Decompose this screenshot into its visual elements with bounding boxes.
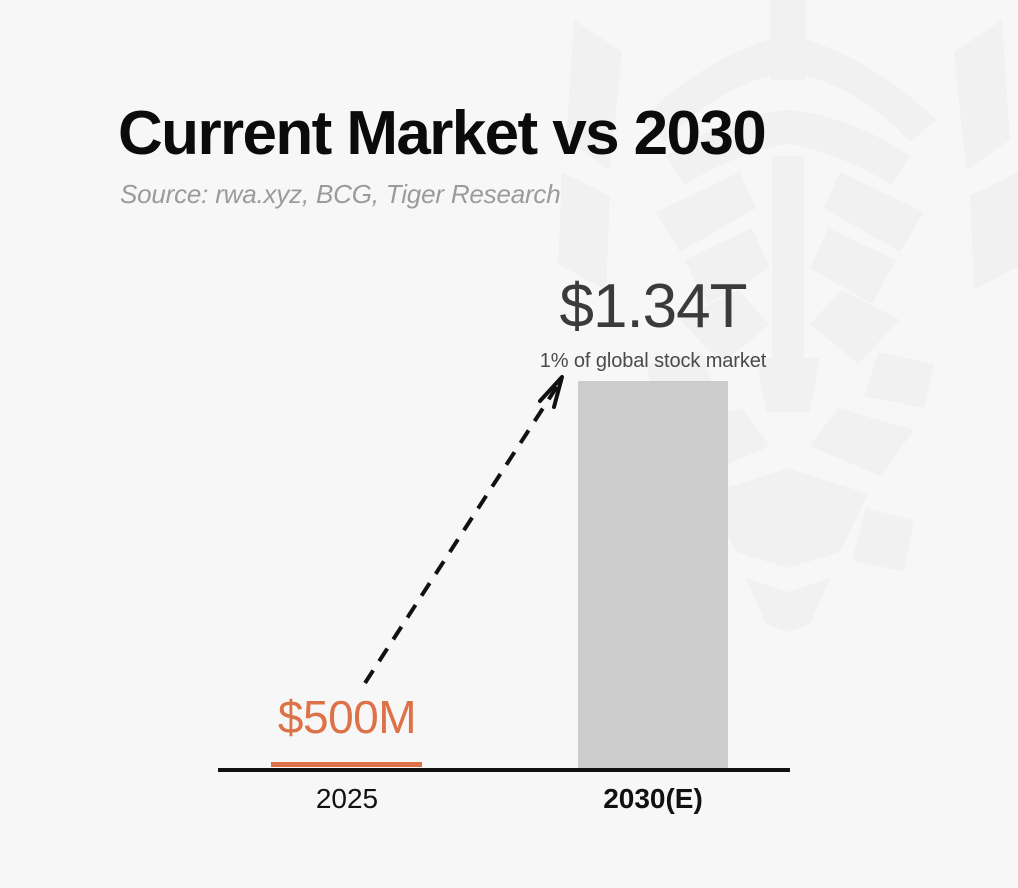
bar-value-label-2030: $1.34T: [503, 276, 803, 338]
bar-value-label-2025: $500M: [223, 694, 471, 740]
x-tick-label-2030: 2030(E): [529, 783, 777, 815]
x-tick-label-2025: 2025: [223, 783, 471, 815]
bar-caption-2030: 1% of global stock market: [503, 350, 803, 373]
chart-canvas: Current Market vs 2030 Source: rwa.xyz, …: [0, 0, 1018, 888]
x-axis-line: [218, 768, 790, 772]
chart-title: Current Market vs 2030: [118, 103, 765, 165]
bar-2025: [271, 762, 422, 767]
dashed-growth-arrow-icon: [340, 355, 590, 700]
chart-header: Current Market vs 2030 Source: rwa.xyz, …: [118, 103, 765, 210]
bar-2030: [578, 381, 728, 768]
chart-subtitle-source: Source: rwa.xyz, BCG, Tiger Research: [120, 179, 765, 210]
